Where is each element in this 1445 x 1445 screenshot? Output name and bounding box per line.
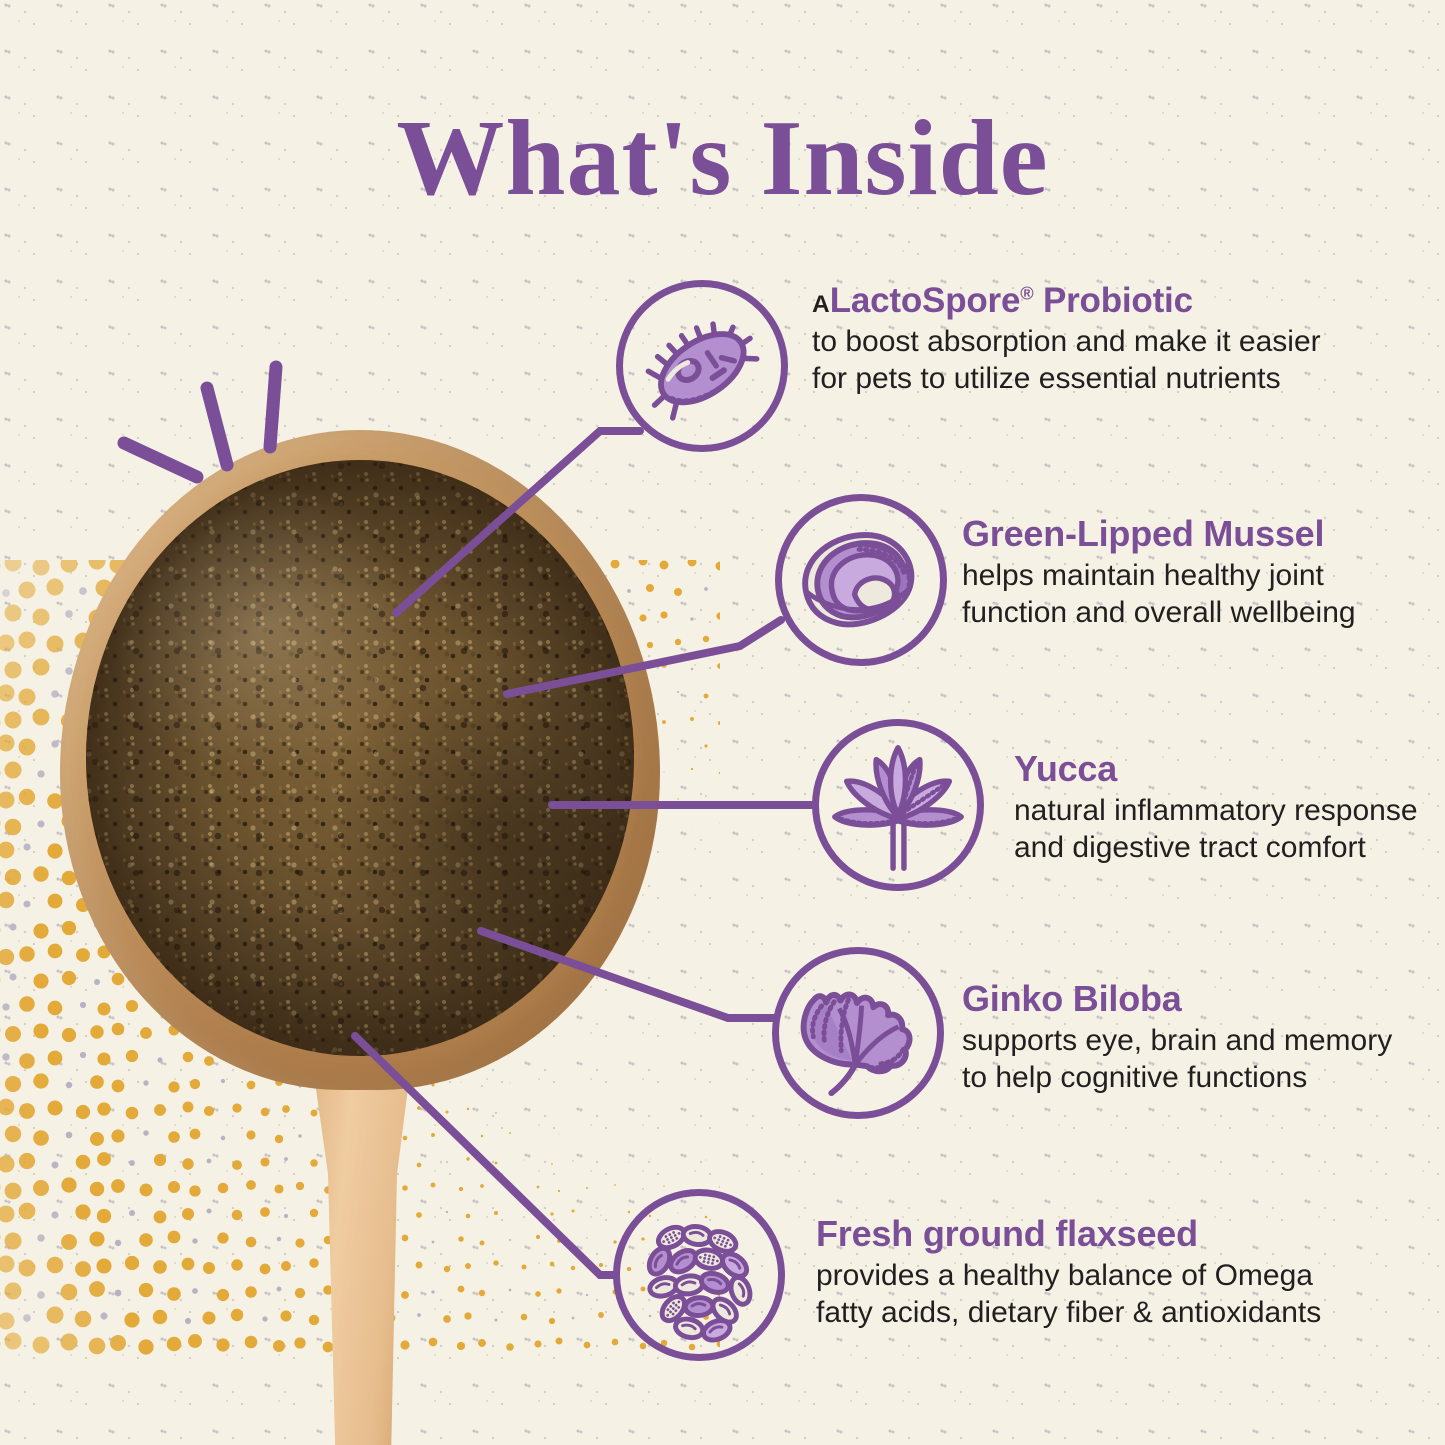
callout-heading-main-lactospore: LactoSpore: [830, 281, 1021, 320]
whats-inside-infographic: ALactoSpore® Probiotic to boost absorpti…: [0, 0, 1445, 1445]
callout-text-green-lipped-mussel: Green-Lipped Mussel helps maintain healt…: [962, 515, 1442, 631]
callout-text-flaxseed: Fresh ground flaxseed provides a healthy…: [816, 1215, 1336, 1331]
callout-body-flaxseed: provides a healthy balance of Omega fatt…: [816, 1258, 1336, 1331]
callout-text-yucca: Yucca natural inflammatory response and …: [1014, 750, 1445, 866]
sparkle-marks-icon: [100, 355, 310, 485]
yucca-plant-icon: [819, 726, 977, 884]
ground-flaxseed-powder: [86, 460, 634, 1056]
flaxseed-cluster-icon: [620, 1196, 778, 1354]
callout-lead-lactospore: A: [812, 291, 830, 318]
callout-heading-lactospore: ALactoSpore® Probiotic: [812, 282, 1332, 319]
probiotic-bacteria-icon: [623, 287, 781, 445]
callout-body-green-lipped-mussel: helps maintain healthy joint function an…: [962, 558, 1442, 631]
callout-circle-green-lipped-mussel: [775, 494, 947, 666]
mussel-shell-icon: [782, 501, 940, 659]
callout-heading-ginko-biloba: Ginko Biloba: [962, 980, 1432, 1018]
wooden-spoon-image: [50, 420, 710, 1445]
callout-body-ginko-biloba: supports eye, brain and memory to help c…: [962, 1023, 1432, 1096]
callout-body-yucca: natural inflammatory response and digest…: [1014, 793, 1445, 866]
callout-circle-ginko-biloba: [772, 947, 944, 1119]
registered-mark: ®: [1020, 283, 1033, 303]
callout-heading-tail-lactospore: Probiotic: [1033, 281, 1192, 320]
callout-text-lactospore: ALactoSpore® Probiotic to boost absorpti…: [812, 282, 1332, 397]
callout-heading-yucca: Yucca: [1014, 750, 1445, 788]
callout-circle-flaxseed: [613, 1189, 785, 1361]
callout-circle-lactospore: [616, 280, 788, 452]
callout-heading-green-lipped-mussel: Green-Lipped Mussel: [962, 515, 1442, 553]
callout-body-lactospore: to boost absorption and make it easier f…: [812, 324, 1332, 397]
ginkgo-leaf-icon: [779, 954, 937, 1112]
flaxseed-edge-shadow: [86, 460, 634, 1056]
page-title: What's Inside: [0, 105, 1445, 213]
callout-circle-yucca: [812, 719, 984, 891]
callout-text-ginko-biloba: Ginko Biloba supports eye, brain and mem…: [962, 980, 1432, 1096]
callout-heading-flaxseed: Fresh ground flaxseed: [816, 1215, 1336, 1253]
